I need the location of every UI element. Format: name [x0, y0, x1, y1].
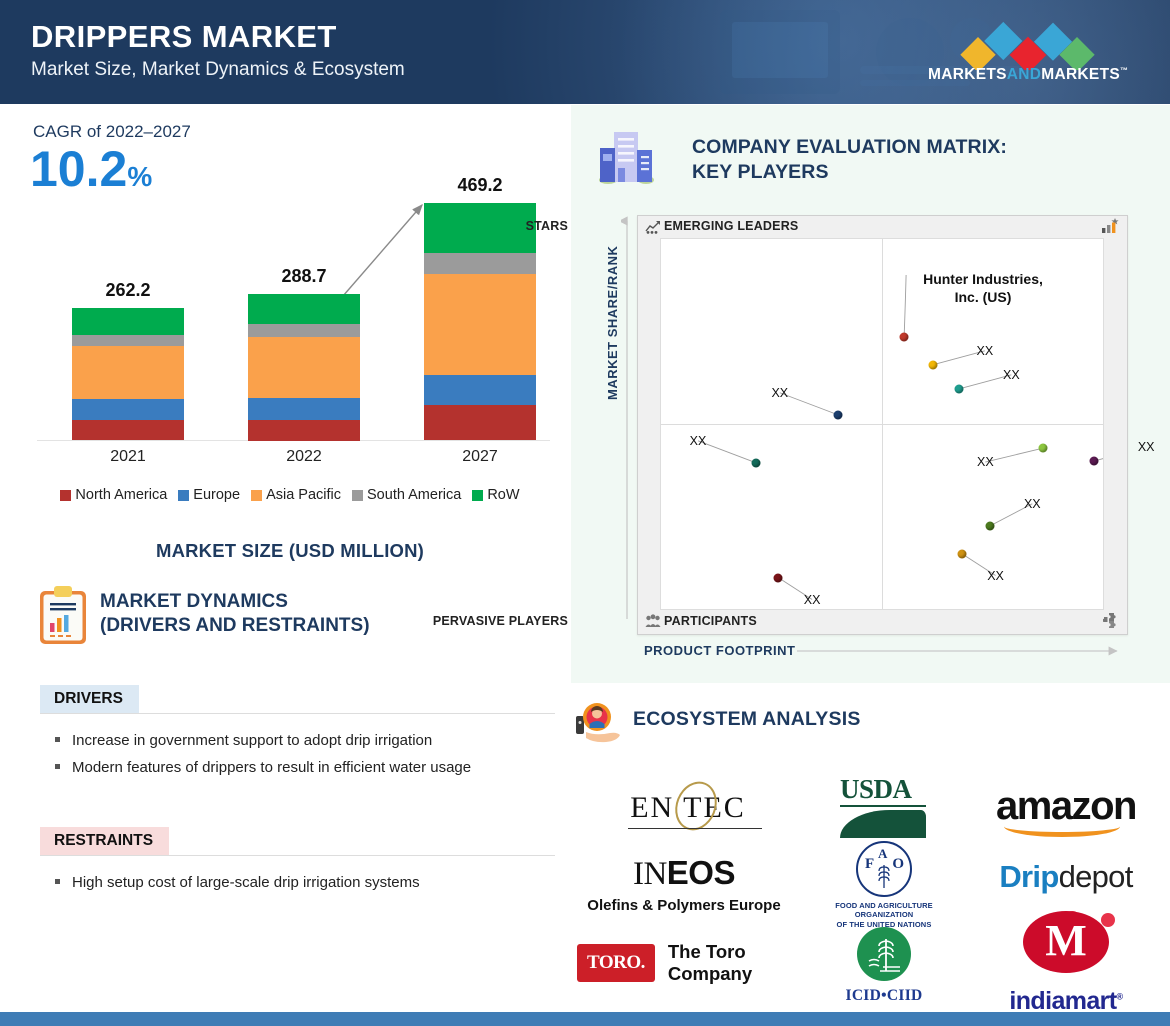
page-title: DRIPPERS MARKET [31, 19, 337, 55]
fao-wheat-icon [876, 859, 892, 889]
entec-underline [628, 828, 762, 830]
matrix-x-axis-label: PRODUCT FOOTPRINT [644, 643, 796, 658]
bar-2027 [424, 203, 536, 440]
market-share-axis-arrow [621, 215, 633, 630]
bar-segment-south-america [72, 335, 184, 346]
cem-title-line2: KEY PLAYERS [692, 160, 1007, 185]
matrix-point-p9 [957, 549, 966, 558]
bar-segment-row [248, 294, 360, 324]
fao-mark: F A O FOOD AND AGRICULTURE ORGANIZAT [835, 841, 933, 928]
icid-plant-icon [857, 927, 911, 981]
chart-legend: North AmericaEuropeAsia PacificSouth Ame… [30, 487, 550, 503]
market-dynamics-title-line1: MARKET DYNAMICS [100, 590, 370, 614]
hunter-callout-line2: Inc. (US) [908, 288, 1058, 306]
bar-segment-north-america [72, 420, 184, 440]
matrix-point-label-p9: XX [987, 569, 1004, 583]
bar-segment-europe [248, 398, 360, 420]
legend-swatch [60, 490, 71, 501]
drivers-divider [40, 713, 555, 714]
ineos-subtext: Olefins & Polymers Europe [587, 897, 780, 914]
toro-company-name: The Toro Company [668, 941, 787, 985]
driver-item: Increase in government support to adopt … [52, 730, 552, 751]
matrix-leader-line-p1 [904, 275, 906, 337]
entec-logo: EN TEC [589, 779, 787, 837]
bar-segment-south-america [424, 253, 536, 274]
matrix-point-label-p4: XX [977, 455, 994, 469]
restraint-item: High setup cost of large-scale drip irri… [52, 872, 552, 893]
x-axis-label-2027: 2027 [410, 448, 550, 466]
matrix-point-p6 [833, 410, 842, 419]
icid-emblem [857, 927, 911, 981]
fao-subtext: FOOD AND AGRICULTURE ORGANIZATION OF THE… [835, 901, 933, 928]
matrix-point-label-p8: XX [1024, 497, 1041, 511]
fao-sub-line1: FOOD AND AGRICULTURE [835, 901, 933, 910]
matrix-point-label-p3: XX [1003, 368, 1020, 382]
clipboard-chart-icon [37, 585, 89, 647]
page-header: DRIPPERS MARKET Market Size, Market Dyna… [0, 0, 1170, 104]
usda-field-shape [840, 810, 926, 838]
matrix-point-label-p6: XX [771, 386, 788, 400]
company-evaluation-title: COMPANY EVALUATION MATRIX: KEY PLAYERS [692, 135, 1007, 186]
amazon-wordmark: amazon [996, 786, 1136, 826]
legend-item-europe: Europe [178, 487, 240, 503]
footer-bar [0, 1012, 1170, 1026]
logo-markets-1: MARKETS [928, 66, 1007, 83]
bar-segment-asia-pacific [424, 274, 536, 374]
ecosystem-title: ECOSYSTEM ANALYSIS [633, 708, 861, 731]
infographic-page: DRIPPERS MARKET Market Size, Market Dyna… [0, 0, 1170, 1026]
matrix-point-label-p2: XX [976, 344, 993, 358]
bar-segment-asia-pacific [72, 346, 184, 399]
toro-logo: TORO. The Toro Company [577, 935, 787, 991]
bar-segment-europe [424, 375, 536, 405]
ineos-text: INEOS [587, 856, 780, 891]
x-axis-label-2022: 2022 [234, 448, 374, 466]
legend-label: Asia Pacific [266, 487, 341, 503]
indiamart-head-right [1101, 913, 1115, 927]
legend-item-row: RoW [472, 487, 519, 503]
quadrant-label-emerging-leaders: EMERGING LEADERS [664, 219, 798, 233]
legend-label: North America [75, 487, 167, 503]
bar-2022 [248, 294, 360, 440]
hunter-callout-line1: Hunter Industries, [908, 270, 1058, 288]
usda-text: USDA [840, 776, 928, 803]
driver-item: Modern features of drippers to result in… [52, 757, 552, 778]
stars-bars-icon [1101, 218, 1119, 234]
fao-sub-line2: ORGANIZATION [835, 910, 933, 919]
ecosystem-logo-grid: EN TEC USDA amazon INEOS Olefins & Polym… [571, 765, 1170, 1005]
quadrant-label-pervasive-players: PERVASIVE PLAYERS [433, 614, 568, 628]
usda-underline [840, 805, 926, 807]
x-axis-label-2021: 2021 [58, 448, 198, 466]
logo-markets-2: MARKETS [1041, 66, 1120, 83]
indiamart-letter-m: M [1045, 919, 1087, 963]
legend-item-north-america: North America [60, 487, 167, 503]
indiamart-registered: ® [1117, 991, 1123, 1001]
market-size-title: MARKET SIZE (USD MILLION) [30, 540, 550, 562]
matrix-point-p8 [986, 521, 995, 530]
restraints-list: High setup cost of large-scale drip irri… [52, 872, 552, 899]
indiamart-blob: M [1023, 911, 1109, 973]
drivers-tag: DRIVERS [40, 685, 139, 713]
matrix-point-label-p7: XX [690, 434, 707, 448]
toro-mark: TORO. The Toro Company [577, 941, 787, 985]
matrix-point-label-p5: XX [1138, 440, 1155, 454]
bar-total-label-2027: 469.2 [410, 175, 550, 196]
dripdepot-depot: depot [1059, 859, 1133, 894]
fao-letter-o: O [892, 856, 904, 873]
matrix-point-p3 [955, 384, 964, 393]
bar-segment-asia-pacific [248, 337, 360, 398]
bar-2021 [72, 308, 184, 440]
indiamart-mark: M indiamart® [1009, 899, 1122, 1016]
fao-emblem: F A O [856, 841, 912, 897]
legend-item-south-america: South America [352, 487, 461, 503]
icid-logo: ICID•CIID [799, 927, 969, 1005]
logo-wordmark: MARKETSANDMARKETS™ [928, 66, 1128, 84]
amazon-logo: amazon [971, 777, 1161, 835]
legend-swatch [251, 490, 262, 501]
drivers-list: Increase in government support to adopt … [52, 730, 552, 785]
emerging-leaders-icon [645, 220, 661, 234]
icid-mark: ICID•CIID [845, 927, 922, 1005]
legend-swatch [352, 490, 363, 501]
logo-trademark: ™ [1120, 66, 1128, 75]
matrix-point-p1 [900, 333, 909, 342]
fao-letter-f: F [865, 856, 874, 873]
matrix-point-p5 [1090, 457, 1099, 466]
matrix-leader-line-p4 [985, 448, 1043, 462]
matrix-point-p2 [928, 360, 937, 369]
matrix-leader-line-p6 [780, 393, 838, 415]
cagr-label: CAGR of 2022–2027 [33, 122, 191, 142]
legend-swatch [472, 490, 483, 501]
market-dynamics-title: MARKET DYNAMICS (DRIVERS AND RESTRAINTS) [100, 590, 370, 639]
amazon-smile-arrow [1004, 816, 1120, 837]
ineos-mark: INEOS Olefins & Polymers Europe [587, 856, 780, 914]
indiamart-wordmark: indiamart [1009, 987, 1116, 1015]
hand-person-icon [576, 702, 622, 750]
toro-badge: TORO. [577, 944, 655, 982]
legend-label: South America [367, 487, 461, 503]
legend-label: RoW [487, 487, 519, 503]
dripdepot-logo: Dripdepot [971, 849, 1161, 903]
dripdepot-wordmark: Dripdepot [999, 861, 1132, 892]
puzzle-piece-icon [1103, 612, 1120, 628]
dripdepot-drip: Drip [999, 859, 1058, 894]
page-subtitle: Market Size, Market Dynamics & Ecosystem [31, 59, 405, 81]
legend-item-asia-pacific: Asia Pacific [251, 487, 341, 503]
logo-diamonds [928, 18, 1128, 70]
market-size-stacked-bar-chart: 262.22021288.72022469.22027 [30, 190, 550, 510]
matrix-y-axis-label: MARKET SHARE/RANK [605, 246, 620, 400]
bar-segment-row [424, 203, 536, 253]
buildings-icon [596, 128, 656, 186]
logo-and: AND [1007, 66, 1041, 83]
bar-segment-row [72, 308, 184, 336]
bar-total-label-2022: 288.7 [234, 266, 374, 287]
matrix-point-p4 [1039, 444, 1048, 453]
matrix-point-p10 [774, 573, 783, 582]
usda-mark: USDA [840, 776, 928, 836]
quadrant-label-participants: PARTICIPANTS [664, 614, 757, 628]
matrix-point-label-p10: XX [804, 593, 821, 607]
market-dynamics-title-line2: (DRIVERS AND RESTRAINTS) [100, 614, 370, 638]
fao-logo: F A O FOOD AND AGRICULTURE ORGANIZAT [799, 845, 969, 925]
matrix-point-p7 [752, 458, 761, 467]
cagr-value: 10.2% [30, 144, 152, 194]
bar-segment-europe [72, 399, 184, 419]
product-footprint-axis-arrow [795, 645, 1125, 657]
cagr-percent-sign: % [127, 161, 152, 192]
cem-title-line1: COMPANY EVALUATION MATRIX: [692, 135, 1007, 160]
bar-total-label-2021: 262.2 [58, 280, 198, 301]
bar-segment-south-america [248, 324, 360, 337]
bar-segment-north-america [248, 420, 360, 440]
cagr-number: 10.2 [30, 141, 127, 197]
quadrant-label-stars: STARS [526, 219, 568, 233]
participants-icon [645, 614, 661, 628]
legend-label: Europe [193, 487, 240, 503]
legend-swatch [178, 490, 189, 501]
matrix-leader-line-p7 [698, 441, 756, 463]
ineos-logo: INEOS Olefins & Polymers Europe [581, 849, 787, 921]
usda-logo: USDA [799, 773, 969, 839]
markets-and-markets-logo: MARKETSANDMARKETS™ [928, 18, 1128, 88]
entec-wordmark: EN TEC [630, 791, 746, 825]
hunter-industries-callout: Hunter Industries, Inc. (US) [908, 270, 1058, 306]
icid-text: ICID•CIID [845, 987, 922, 1005]
indiamart-logo: M indiamart® [971, 909, 1161, 1005]
restraints-tag: RESTRAINTS [40, 827, 169, 855]
bar-segment-north-america [424, 405, 536, 440]
restraints-divider [40, 855, 555, 856]
